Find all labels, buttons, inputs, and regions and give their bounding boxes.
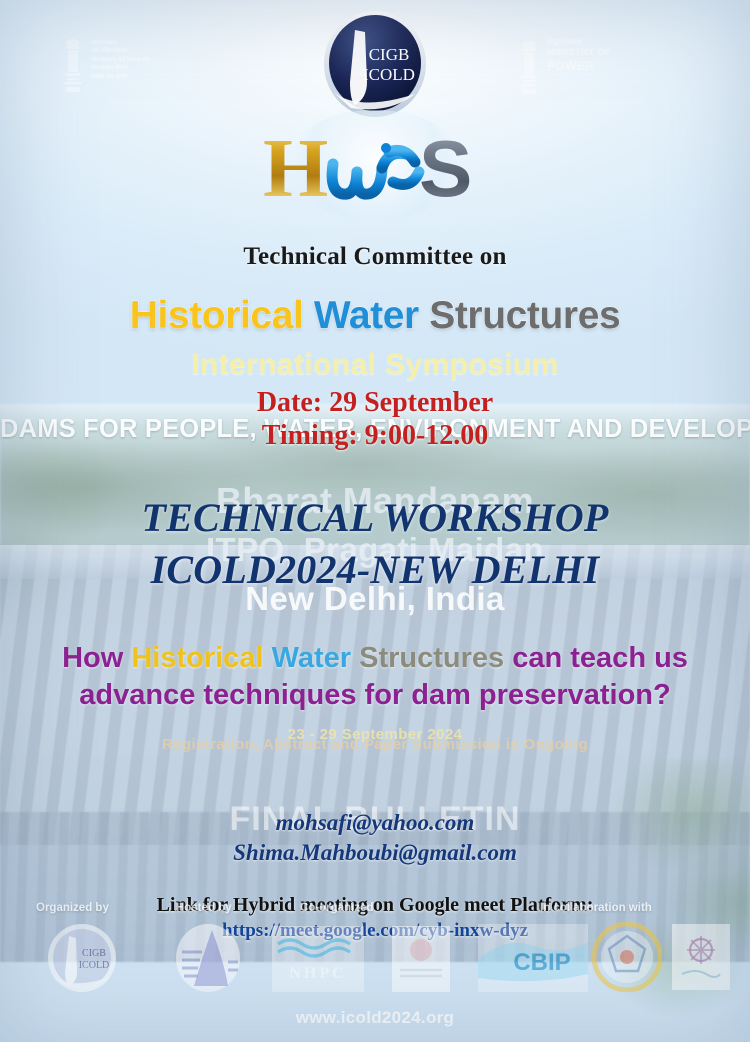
poster-root: भारत सरकार जल शक्ति मंत्रालय जल संसाधन, … — [0, 0, 750, 1042]
vignette-overlay — [0, 0, 750, 1042]
